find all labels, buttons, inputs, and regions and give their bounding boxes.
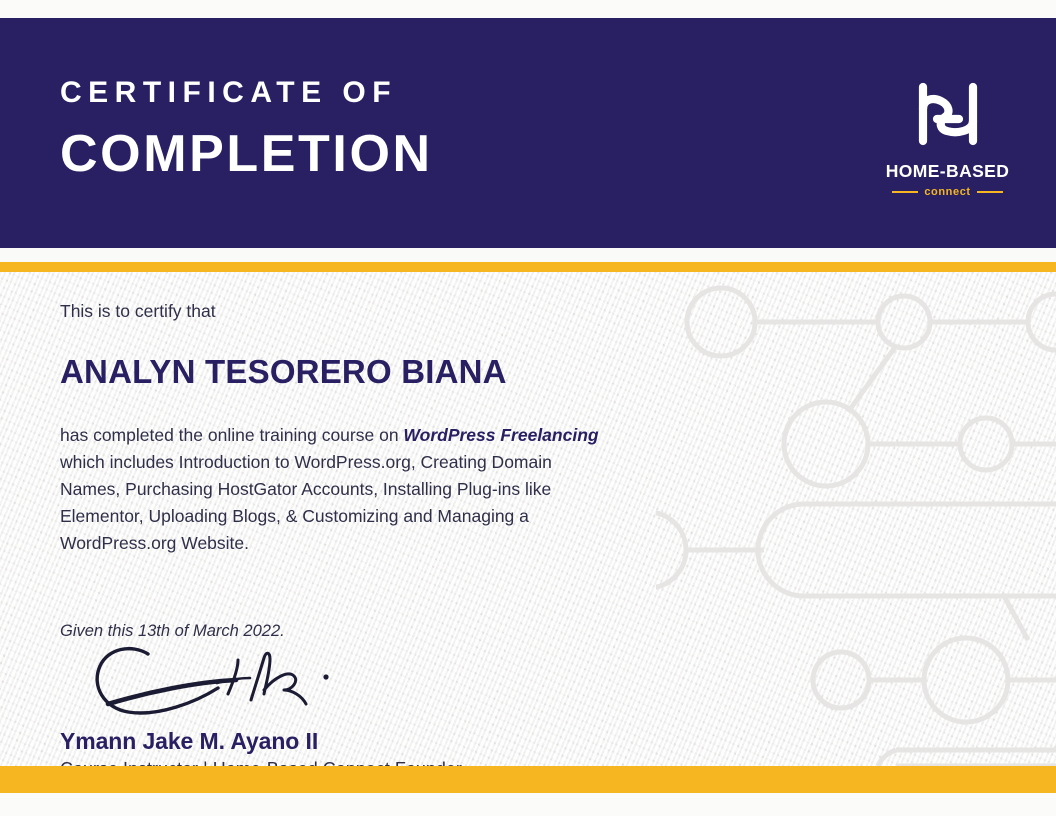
header-divider-gap <box>0 248 1056 262</box>
certificate-document: CERTIFICATE OF COMPLETION <box>0 0 1056 816</box>
certificate-title-block: CERTIFICATE OF COMPLETION <box>60 78 433 188</box>
certificate-title-line-2: COMPLETION <box>60 128 433 180</box>
signature-block: Ymann Jake M. Ayano II Course Instructor… <box>60 640 480 760</box>
certificate-title-line-1: CERTIFICATE OF <box>60 78 433 108</box>
certificate-body: This is to certify that ANALYN TESORERO … <box>60 300 680 557</box>
intro-text: This is to certify that <box>60 300 680 323</box>
brand-wordmark: HOME-BASED <box>886 161 1010 182</box>
handwritten-signature-icon <box>78 640 378 731</box>
brand-logo: HOME-BASED connect <box>885 69 1010 198</box>
course-name-emphasis: WordPress Freelancing <box>403 425 598 445</box>
home-based-connect-h-monogram-icon <box>909 75 987 153</box>
accent-rule-bottom <box>0 766 1056 793</box>
bottom-white-margin <box>0 793 1056 816</box>
issue-date-line: Given this 13th of March 2022. <box>60 622 285 641</box>
signer-name: Ymann Jake M. Ayano II <box>60 728 318 755</box>
recipient-name: ANALYN TESORERO BIANA <box>60 355 680 388</box>
course-description: has completed the online training course… <box>60 422 605 558</box>
description-rest: which includes Introduction to WordPress… <box>60 452 552 553</box>
logo-rule-right <box>977 191 1003 193</box>
top-white-margin <box>0 0 1056 18</box>
logo-rule-left <box>892 191 918 193</box>
network-nodes-pattern-icon <box>656 272 1056 766</box>
header-banner: CERTIFICATE OF COMPLETION <box>0 18 1056 248</box>
brand-sub-wordmark: connect <box>924 186 970 198</box>
description-lead: has completed the online training course… <box>60 425 403 445</box>
accent-rule-top <box>0 262 1056 272</box>
brand-sub-wordmark-row: connect <box>885 186 1010 198</box>
